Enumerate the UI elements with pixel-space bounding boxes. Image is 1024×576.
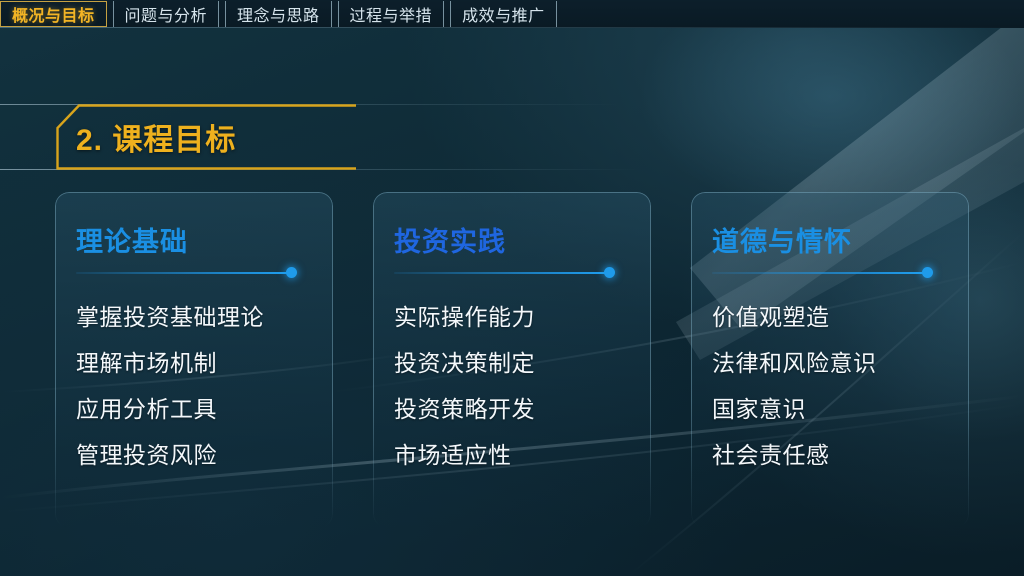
page-title: 2. 课程目标 xyxy=(76,115,236,159)
list-item: 管理投资风险 xyxy=(76,432,321,478)
list-item: 投资决策制定 xyxy=(394,340,639,386)
list-item: 掌握投资基础理论 xyxy=(76,294,321,340)
section-title-block: 2. 课程目标 xyxy=(56,104,548,170)
tab-concept-approach[interactable]: 理念与思路 xyxy=(225,1,332,27)
card-item-list: 掌握投资基础理论 理解市场机制 应用分析工具 管理投资风险 xyxy=(76,294,321,478)
list-item: 理解市场机制 xyxy=(76,340,321,386)
tab-problems-analysis[interactable]: 问题与分析 xyxy=(113,1,220,27)
card-divider-dot-icon xyxy=(286,267,297,278)
list-item: 实际操作能力 xyxy=(394,294,639,340)
goal-card-ethics: 道德与情怀 价值观塑造 法律和风险意识 国家意识 社会责任感 xyxy=(691,192,969,528)
card-divider-line xyxy=(394,272,609,274)
tab-process-measures[interactable]: 过程与举措 xyxy=(338,1,445,27)
slide-canvas: 概况与目标 问题与分析 理念与思路 过程与举措 成效与推广 2. 课程目标 理论… xyxy=(0,0,1024,576)
list-item: 投资策略开发 xyxy=(394,386,639,432)
goal-card-practice: 投资实践 实际操作能力 投资决策制定 投资策略开发 市场适应性 xyxy=(373,192,651,528)
card-heading: 理论基础 xyxy=(76,220,188,259)
tab-overview-goals[interactable]: 概况与目标 xyxy=(0,1,107,27)
tab-label: 问题与分析 xyxy=(125,2,208,26)
card-item-list: 实际操作能力 投资决策制定 投资策略开发 市场适应性 xyxy=(394,294,639,478)
tab-label: 成效与推广 xyxy=(462,2,545,26)
tab-results-promotion[interactable]: 成效与推广 xyxy=(450,1,557,27)
goal-cards-row: 理论基础 掌握投资基础理论 理解市场机制 应用分析工具 管理投资风险 投资实践 … xyxy=(55,192,969,528)
tab-label: 过程与举措 xyxy=(350,2,433,26)
card-item-list: 价值观塑造 法律和风险意识 国家意识 社会责任感 xyxy=(712,294,957,478)
list-item: 应用分析工具 xyxy=(76,386,321,432)
top-tab-bar: 概况与目标 问题与分析 理念与思路 过程与举措 成效与推广 xyxy=(0,0,1024,28)
card-divider-dot-icon xyxy=(604,267,615,278)
list-item: 国家意识 xyxy=(712,386,957,432)
card-divider-dot-icon xyxy=(922,267,933,278)
card-divider-line xyxy=(76,272,291,274)
list-item: 社会责任感 xyxy=(712,432,957,478)
card-heading: 道德与情怀 xyxy=(712,220,852,259)
tab-label: 概况与目标 xyxy=(12,2,95,26)
card-divider-line xyxy=(712,272,927,274)
list-item: 价值观塑造 xyxy=(712,294,957,340)
goal-card-theory: 理论基础 掌握投资基础理论 理解市场机制 应用分析工具 管理投资风险 xyxy=(55,192,333,528)
tab-label: 理念与思路 xyxy=(237,2,320,26)
list-item: 法律和风险意识 xyxy=(712,340,957,386)
list-item: 市场适应性 xyxy=(394,432,639,478)
card-heading: 投资实践 xyxy=(394,220,506,259)
